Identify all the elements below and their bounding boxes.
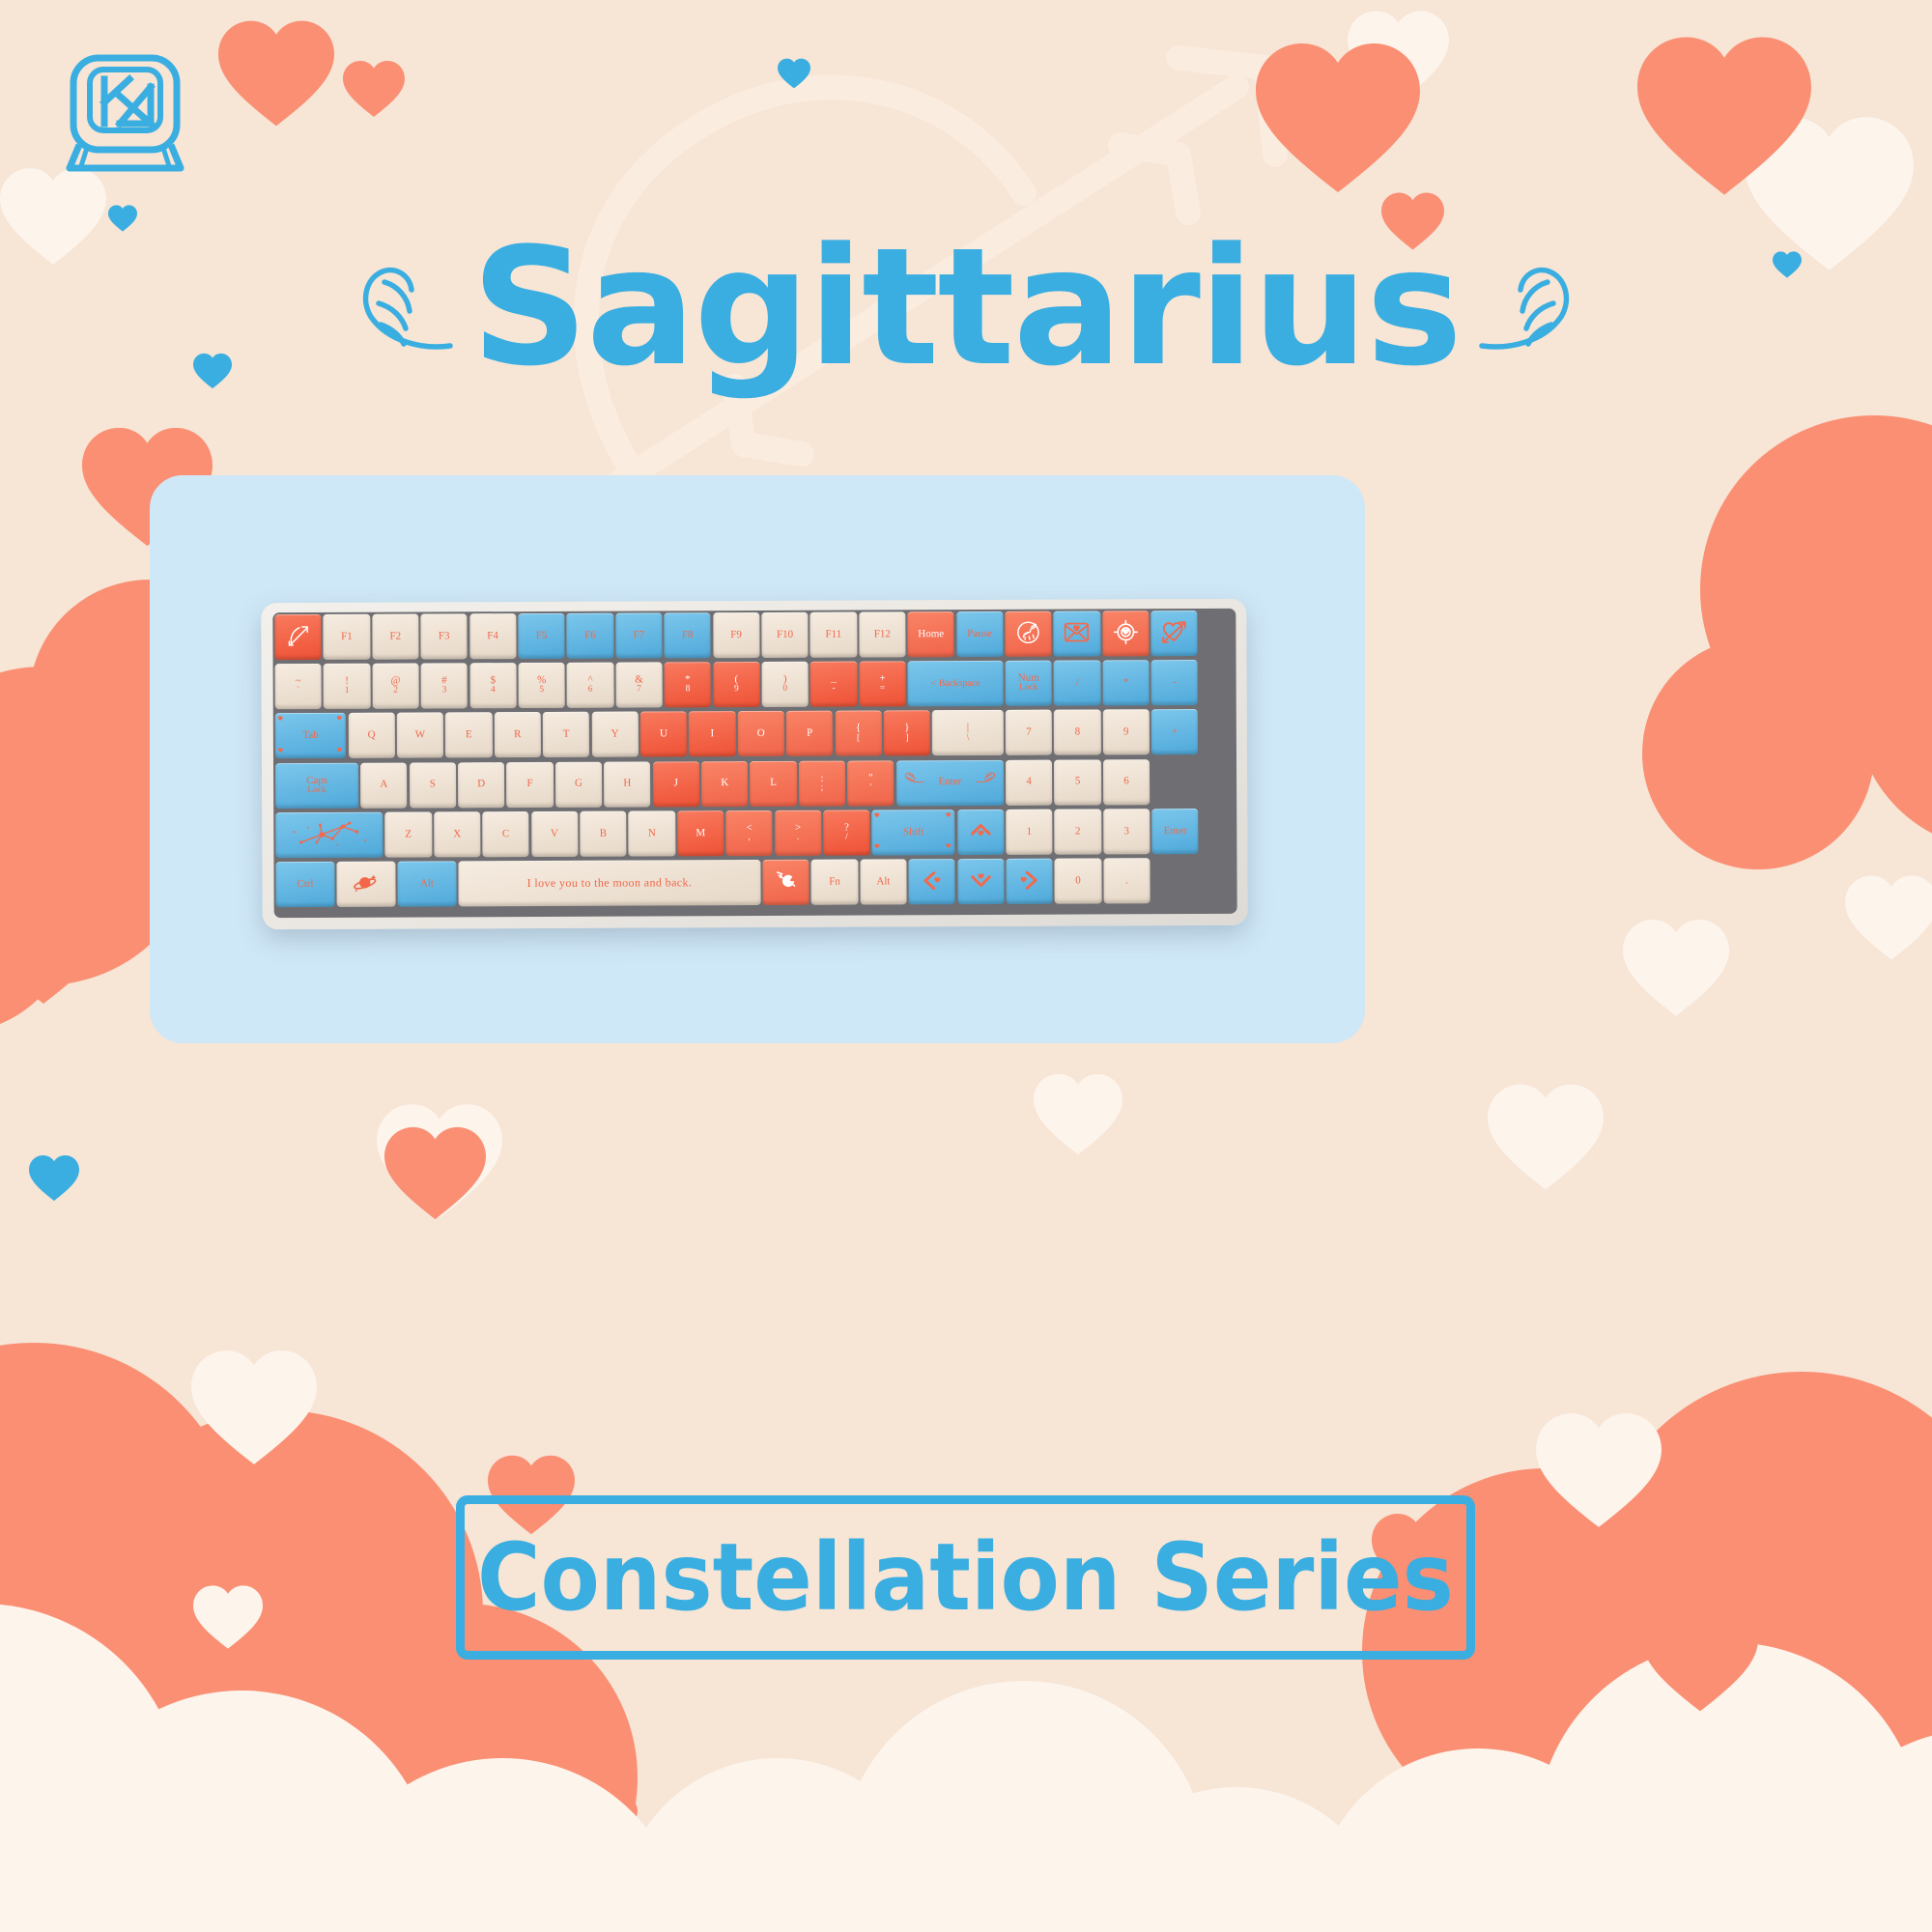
key-legend: F12 — [874, 629, 891, 639]
heart-target-icon — [1113, 619, 1138, 647]
key-arrow-up-heart[interactable] — [957, 810, 1004, 855]
key-f12[interactable]: F12 — [859, 611, 905, 657]
key-legend: P — [807, 728, 812, 739]
sagittarius-centaur-icon — [1015, 620, 1040, 648]
key-0[interactable]: 0 — [1055, 858, 1101, 903]
key-l[interactable]: L — [750, 760, 796, 806]
key-9[interactable]: 9 — [1103, 710, 1150, 755]
key-legend: 9 — [1123, 727, 1129, 738]
key-legend: Q — [368, 730, 376, 741]
key-7[interactable]: 7 — [1006, 710, 1052, 755]
key-legend: 5 — [1075, 777, 1081, 787]
key-f6[interactable]: F6 — [567, 613, 613, 659]
key-legend: F8 — [682, 630, 694, 640]
key-legend: M — [696, 828, 705, 838]
heart-icon — [778, 58, 810, 89]
series-badge: Constellation Series — [456, 1495, 1475, 1660]
key-[interactable]: - — [1151, 660, 1198, 705]
key-tab[interactable]: Tab — [275, 713, 347, 758]
key-[interactable]: %5 — [519, 663, 565, 708]
heart-icon — [278, 748, 283, 753]
key-legend: F — [526, 779, 532, 789]
key-legend: + — [1172, 726, 1178, 737]
heart-icon — [1536, 1410, 1662, 1530]
key-legend-bottom: ` — [297, 688, 299, 697]
key-[interactable]: + — [1151, 709, 1198, 754]
key-a[interactable]: A — [360, 762, 407, 808]
key-cupid-arrow[interactable] — [762, 860, 809, 905]
heart-icon — [278, 717, 283, 722]
heart-arrow-icon — [1162, 619, 1187, 647]
key-legend-bottom: 0 — [782, 685, 787, 695]
arrow-up-heart-icon — [970, 821, 991, 842]
key-legend: F11 — [826, 629, 842, 639]
key-[interactable]: _- — [810, 662, 857, 707]
heart-icon — [337, 747, 342, 752]
key-legend: F6 — [584, 631, 596, 641]
key-sagittarius-centaur[interactable] — [1005, 611, 1051, 657]
key-d[interactable]: D — [458, 762, 504, 808]
heart-icon — [947, 843, 952, 848]
key-legend-bottom: 3 — [442, 687, 447, 696]
key-legend-bottom: 9 — [734, 686, 739, 696]
heart-icon — [1348, 10, 1449, 104]
key-pause[interactable]: Pause — [956, 611, 1003, 657]
key-legend: 2 — [1075, 826, 1081, 837]
key-legend: N — [648, 828, 656, 838]
key-sagittarius-constellation[interactable] — [275, 811, 383, 857]
key-[interactable]: &7 — [615, 663, 662, 708]
key-legend: A — [380, 780, 387, 790]
key-o[interactable]: O — [738, 711, 784, 756]
key-legend: * — [1123, 677, 1129, 688]
wing-icon — [975, 772, 996, 784]
key-legend: S — [430, 780, 436, 790]
key-legend: 1 — [1027, 826, 1033, 837]
key-legend: H — [623, 779, 631, 789]
key-c[interactable]: C — [482, 811, 528, 857]
heart-icon — [875, 812, 880, 817]
key-f3[interactable]: F3 — [421, 613, 468, 659]
key-legend-top: } — [904, 724, 909, 734]
key-f1[interactable]: F1 — [324, 614, 370, 660]
key-legend-bottom: ; — [821, 784, 824, 794]
key-legend: X — [453, 829, 461, 839]
heart-icon — [218, 19, 334, 128]
key-u[interactable]: U — [640, 712, 687, 757]
key-b[interactable]: B — [580, 810, 626, 856]
key-[interactable]: ^6 — [567, 663, 613, 708]
key-love-letter[interactable] — [1054, 611, 1100, 656]
key-alt[interactable]: Alt — [397, 861, 456, 906]
cupid-arrow-icon — [774, 868, 798, 895]
coral-cloud-right — [1584, 386, 1932, 927]
key-m[interactable]: M — [677, 810, 724, 856]
key-legend: F1 — [341, 632, 353, 642]
key-arrow-left-heart[interactable] — [909, 859, 955, 904]
key-legend: E — [466, 730, 472, 741]
key-f2[interactable]: F2 — [372, 614, 418, 660]
key-legend-top: { — [856, 724, 861, 734]
key-x[interactable]: X — [434, 811, 480, 857]
heart-icon — [191, 1348, 317, 1467]
key-legend-bottom: / — [845, 834, 848, 843]
key-legend-bottom: , — [748, 834, 750, 843]
key-g[interactable]: G — [555, 761, 602, 807]
heart-icon — [108, 205, 137, 232]
key-f10[interactable]: F10 — [761, 612, 808, 658]
planet-icon — [354, 872, 379, 896]
key-legend: C — [502, 829, 509, 839]
key-3[interactable]: 3 — [1103, 809, 1150, 854]
key-n[interactable]: N — [629, 810, 675, 856]
heart-icon — [1845, 874, 1932, 961]
wing-icon — [355, 261, 462, 354]
key-[interactable]: * — [1102, 660, 1149, 705]
key-fn[interactable]: Fn — [811, 860, 858, 905]
key-[interactable]: )0 — [762, 662, 809, 707]
kk-keycap-logo[interactable] — [60, 48, 190, 174]
key-legend: Enter — [1164, 826, 1187, 837]
key-legend-bottom: 7 — [637, 686, 641, 696]
heart-icon — [1637, 34, 1811, 198]
key-[interactable]: !1 — [324, 664, 370, 709]
key-legend: Pause — [967, 629, 992, 639]
heart-icon — [591, 1797, 638, 1840]
key-legend: B — [600, 828, 607, 838]
heart-icon — [377, 1101, 502, 1221]
key-enter[interactable]: Enter — [896, 759, 1004, 805]
key-enter[interactable]: Enter — [1151, 809, 1198, 854]
key-legend: F5 — [536, 631, 548, 641]
key-[interactable]: ?/ — [823, 810, 869, 855]
key-legend-bottom: ] — [905, 734, 908, 744]
key-f5[interactable]: F5 — [518, 613, 564, 659]
key-legend: F9 — [730, 630, 742, 640]
key-f9[interactable]: F9 — [713, 612, 759, 658]
key-f4[interactable]: F4 — [469, 613, 516, 659]
key-8[interactable]: 8 — [1054, 710, 1100, 755]
key-s[interactable]: S — [410, 762, 456, 808]
key-legend: Enter — [938, 778, 961, 788]
key-legend: . — [1125, 875, 1128, 886]
key-legend-bottom: 1 — [345, 687, 350, 696]
key-legend: Home — [918, 629, 944, 639]
key-legend-bottom: ' — [870, 783, 872, 793]
key-legend: Y — [611, 729, 619, 740]
key-[interactable]: ~` — [275, 664, 322, 709]
key-legend: Alt — [420, 878, 434, 889]
key-shift[interactable]: Shift — [872, 810, 955, 855]
cream-cloud-bottom-mid — [618, 1642, 1372, 1932]
key-legend: T — [563, 729, 570, 740]
title-block: Sagittarius — [0, 230, 1932, 384]
key-legend: Alt — [876, 876, 890, 887]
heart-icon — [1034, 1072, 1122, 1156]
key-legend: G — [575, 779, 582, 789]
key-r[interactable]: R — [495, 712, 541, 757]
key-j[interactable]: J — [653, 761, 699, 807]
poster-canvas: Sagittarius F1F2F3F4F5F6F7F8F9F10F11F12H… — [0, 0, 1932, 1932]
key-[interactable]: {[ — [835, 711, 881, 756]
heart-icon — [384, 1125, 486, 1221]
key-f7[interactable]: F7 — [615, 612, 662, 658]
key-z[interactable]: Z — [385, 811, 432, 857]
key-p[interactable]: P — [786, 711, 833, 756]
key-h[interactable]: H — [604, 761, 650, 807]
key-legend-bottom: Lock — [307, 786, 327, 796]
heart-icon — [1238, 1802, 1275, 1836]
key-legend: Z — [405, 829, 412, 839]
keyboard-product-image[interactable]: F1F2F3F4F5F6F7F8F9F10F11F12HomePause~`!1… — [261, 599, 1247, 929]
key-legend: J — [674, 779, 678, 789]
heart-icon — [1623, 918, 1729, 1018]
key-legend: L — [770, 778, 777, 788]
key-legend: Shift — [903, 827, 923, 838]
key-alt[interactable]: Alt — [860, 859, 906, 904]
key-[interactable]: :; — [799, 760, 845, 806]
heart-icon — [343, 60, 405, 118]
key-f11[interactable]: F11 — [810, 612, 857, 658]
key-legend: W — [415, 730, 425, 741]
key-legend: V — [551, 829, 558, 839]
key-legend: F4 — [487, 631, 498, 641]
key-legend-top: | — [967, 723, 969, 733]
key-legend-bottom: 6 — [588, 686, 593, 696]
key-[interactable]: "' — [847, 760, 894, 806]
key-bow-arrow[interactable] — [274, 614, 321, 660]
arrow-down-heart-icon — [970, 870, 991, 892]
key-legend: F10 — [777, 630, 793, 640]
key-ctrl[interactable]: Ctrl — [275, 862, 334, 907]
heart-icon — [29, 1154, 79, 1202]
key-planet[interactable] — [336, 862, 395, 907]
key-[interactable]: += — [859, 662, 905, 707]
key-i-love-you-to-the-moon-and-back[interactable]: I love you to the moon and back. — [458, 860, 760, 906]
key-legend: 4 — [1026, 777, 1032, 787]
key-[interactable]: . — [1103, 858, 1150, 903]
key-[interactable]: #3 — [421, 663, 468, 708]
key-legend-bottom: 4 — [491, 687, 496, 696]
key-backspace[interactable]: < Backspace — [908, 661, 1004, 706]
heart-icon — [947, 812, 952, 817]
key-legend: 7 — [1026, 727, 1032, 738]
key-arrow-down-heart[interactable] — [957, 859, 1004, 904]
key-[interactable]: >. — [775, 810, 821, 855]
key-legend: R — [514, 729, 521, 740]
key-legend: F2 — [389, 631, 401, 641]
key-legend: Ctrl — [297, 879, 313, 890]
key-legend: F7 — [633, 630, 644, 640]
key-legend-bottom: [ — [857, 734, 860, 744]
key-home[interactable]: Home — [908, 611, 954, 657]
key-k[interactable]: K — [701, 761, 748, 807]
key-legend: - — [1173, 677, 1177, 688]
key-legend: 3 — [1123, 826, 1129, 837]
love-letter-icon — [1065, 621, 1090, 645]
key-w[interactable]: W — [397, 713, 443, 758]
key-legend: I — [710, 728, 714, 739]
key-6[interactable]: 6 — [1103, 759, 1150, 805]
key-legend-bottom: - — [833, 685, 836, 695]
key-e[interactable]: E — [445, 713, 492, 758]
key-1[interactable]: 1 — [1006, 809, 1052, 854]
heart-icon — [875, 843, 880, 848]
key-[interactable]: $4 — [469, 663, 516, 708]
key-legend: F3 — [439, 631, 450, 641]
series-badge-label: Constellation Series — [477, 1523, 1454, 1632]
heart-icon — [1642, 1604, 1758, 1714]
heart-icon — [1604, 1835, 1646, 1875]
key-legend: O — [757, 728, 765, 739]
heart-icon — [1488, 1082, 1604, 1192]
key-[interactable]: }] — [884, 711, 930, 756]
heart-icon — [1256, 41, 1420, 195]
key-legend-bottom: \ — [967, 734, 970, 744]
sagittarius-constellation-icon — [281, 815, 378, 853]
key-caps[interactable]: CapsLock — [275, 762, 358, 808]
wing-icon — [904, 772, 925, 784]
key-legend: K — [721, 779, 728, 789]
key-q[interactable]: Q — [348, 713, 394, 758]
key-num[interactable]: NumLock — [1006, 661, 1052, 706]
arrow-left-heart-icon — [922, 871, 943, 893]
key-i[interactable]: I — [689, 711, 735, 756]
key-legend: 6 — [1123, 777, 1129, 787]
key-[interactable]: (9 — [713, 662, 759, 707]
page-title: Sagittarius — [471, 226, 1461, 388]
key-4[interactable]: 4 — [1006, 759, 1052, 805]
key-legend: < Backspace — [931, 679, 980, 689]
key-y[interactable]: Y — [591, 712, 638, 757]
key-legend: Tab — [302, 730, 318, 741]
key-t[interactable]: T — [543, 712, 589, 757]
key-v[interactable]: V — [531, 811, 578, 857]
key-5[interactable]: 5 — [1054, 759, 1100, 805]
key-arrow-right-heart[interactable] — [1006, 859, 1052, 904]
key-legend: U — [660, 729, 668, 740]
keyboard-plate: F1F2F3F4F5F6F7F8F9F10F11F12HomePause~`!1… — [272, 609, 1236, 918]
arrow-right-heart-icon — [1019, 870, 1040, 892]
bow-arrow-icon — [286, 624, 309, 650]
key-legend: / — [1076, 678, 1079, 689]
key-legend: 0 — [1075, 875, 1081, 886]
heart-icon — [337, 716, 342, 721]
key-legend-bottom: Lock — [1019, 684, 1038, 694]
key-[interactable]: <, — [725, 810, 772, 856]
wing-icon — [1470, 261, 1577, 354]
key-f8[interactable]: F8 — [665, 612, 711, 658]
key-[interactable]: |\ — [932, 710, 1004, 755]
key-[interactable]: / — [1054, 661, 1100, 706]
key-[interactable]: *8 — [665, 662, 711, 707]
key-legend-bottom: 5 — [539, 686, 544, 696]
key-legend-bottom: 8 — [686, 686, 691, 696]
key-f[interactable]: F — [506, 762, 553, 808]
key-heart-arrow[interactable] — [1151, 611, 1197, 656]
key-legend: Fn — [829, 877, 840, 888]
key-2[interactable]: 2 — [1055, 809, 1101, 854]
spacebar-legend: I love you to the moon and back. — [527, 877, 693, 890]
key-legend-bottom: = — [880, 685, 885, 695]
key-legend-bottom: 2 — [393, 687, 398, 696]
heart-icon — [0, 869, 116, 1007]
heart-icon — [101, 1690, 148, 1734]
key-[interactable]: @2 — [372, 664, 418, 709]
key-legend: D — [477, 780, 485, 790]
heart-icon — [1777, 560, 1814, 595]
heart-icon — [193, 1584, 263, 1650]
key-legend: 8 — [1075, 727, 1081, 738]
key-heart-target[interactable] — [1102, 611, 1149, 656]
key-legend-bottom: . — [797, 834, 799, 843]
